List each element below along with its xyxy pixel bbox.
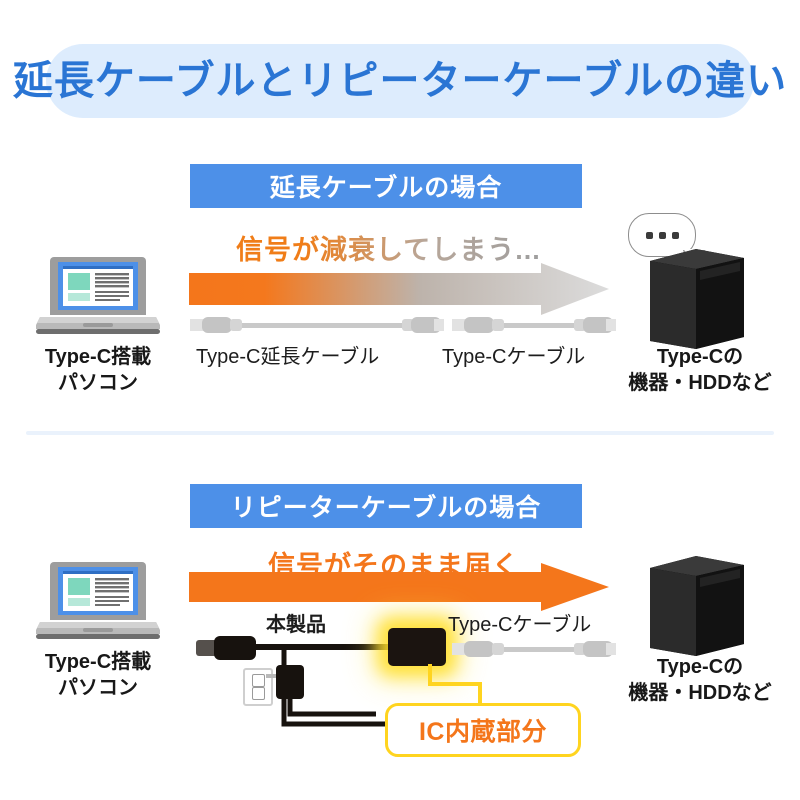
hdd-caption-1-line2: 機器・HDDなど [620,371,780,397]
hdd-caption-1-line1: Type-Cの [620,345,780,371]
hdd-tower-icon-1 [650,249,744,349]
hdd-caption-2-line2: 機器・HDDなど [620,681,780,707]
page-title: 延長ケーブルとリピーターケーブルの違い [46,44,754,118]
product-label: 本製品 [266,608,326,637]
page-title-text: 延長ケーブルとリピーターケーブルの違い [13,61,787,101]
signal-arrow-fading [189,263,609,315]
section-banner-extension-label: 延長ケーブルの場合 [270,168,503,204]
laptop-caption-1-line1: Type-C搭載 [26,345,170,371]
hdd-caption-1: Type-Cの 機器・HDDなど [620,345,780,396]
type-c-extension-cable-graphic [190,313,444,337]
outlet-socket-bottom [252,687,265,700]
type-c-cable-graphic-1 [452,313,616,337]
laptop-icon [36,253,160,339]
ic-chip-housing [388,628,446,666]
type-c-cable-graphic-2 [452,637,616,661]
ic-callout-box: IC内蔵部分 [385,703,581,757]
section-banner-repeater: リピーターケーブルの場合 [190,484,582,528]
ac-adapter-icon [266,662,376,726]
extension-cable-label: Type-C延長ケーブル [196,340,379,369]
bubble-dot-1 [646,232,653,239]
laptop-caption-2-line1: Type-C搭載 [26,650,170,676]
section-banner-repeater-label: リピーターケーブルの場合 [231,488,542,524]
outlet-socket-top [252,674,265,687]
type-c-cable-label-2: Type-Cケーブル [448,608,591,637]
laptop-caption-1: Type-C搭載 パソコン [26,345,170,396]
signal-attenuation-text: 信号が減衰してしまう... [236,228,541,267]
section-banner-extension: 延長ケーブルの場合 [190,164,582,208]
ic-callout-label: IC内蔵部分 [419,712,547,748]
laptop-caption-2-line2: パソコン [26,676,170,702]
laptop-caption-1-line2: パソコン [26,371,170,397]
laptop-icon-2 [36,558,160,644]
bubble-dot-3 [672,232,679,239]
ic-callout-leader-line [400,664,520,708]
hdd-caption-2: Type-Cの 機器・HDDなど [620,655,780,706]
infographic-canvas: 延長ケーブルとリピーターケーブルの違い 延長ケーブルの場合 信号が減衰してしまう… [0,0,800,800]
hdd-caption-2-line1: Type-Cの [620,655,780,681]
signal-arrow-solid [189,563,609,611]
bubble-dot-2 [659,232,666,239]
hdd-tower-icon-2 [650,556,744,656]
laptop-caption-2: Type-C搭載 パソコン [26,650,170,701]
section-divider [26,431,774,435]
type-c-cable-label-1: Type-Cケーブル [442,340,585,369]
